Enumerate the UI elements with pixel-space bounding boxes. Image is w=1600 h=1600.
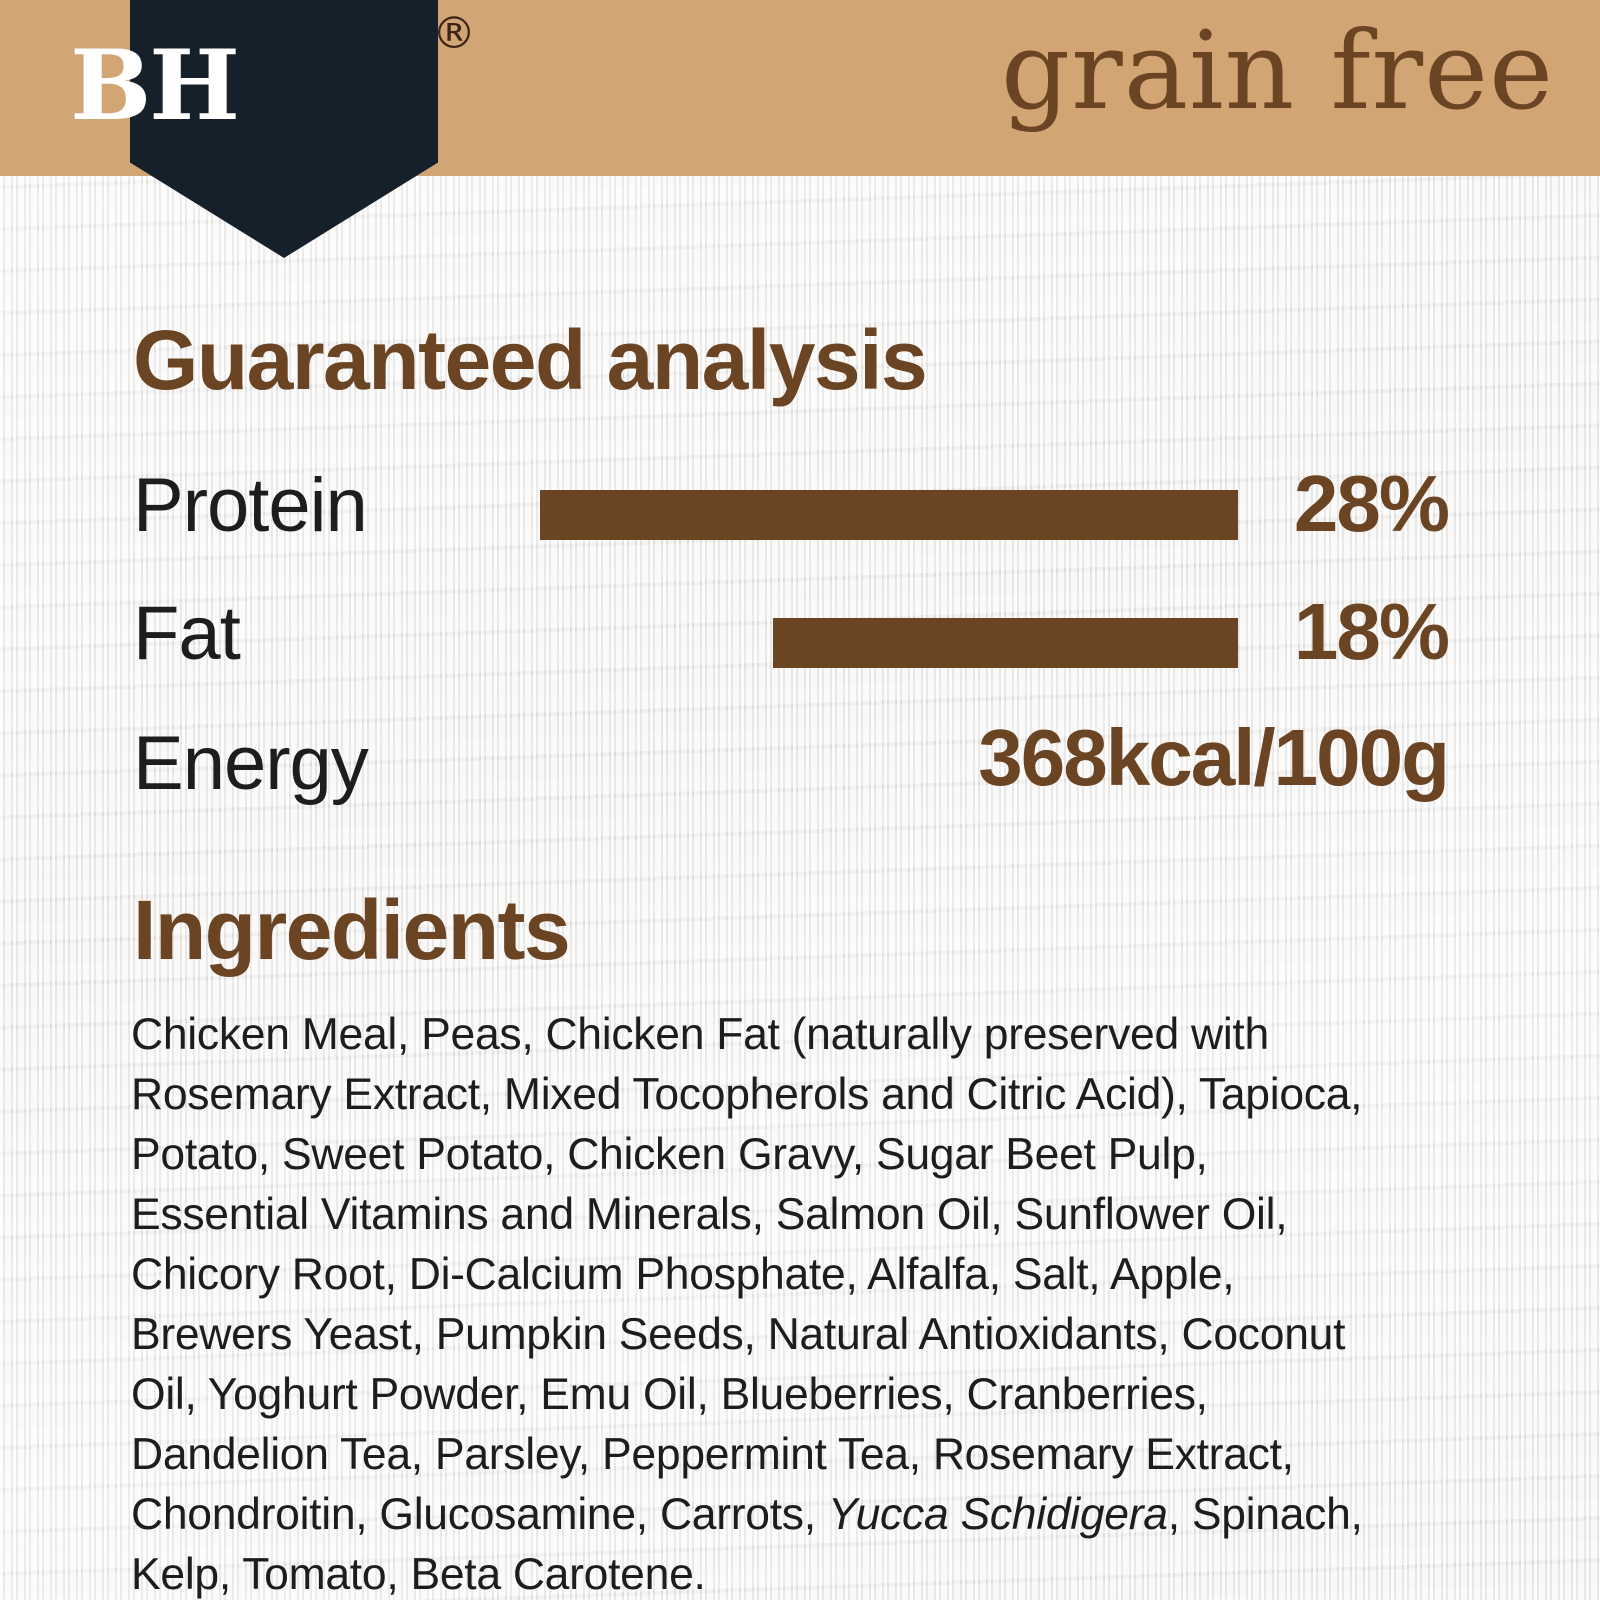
analysis-row-label: Protein: [133, 468, 367, 544]
analysis-row-fat: Fat 18%: [0, 596, 1600, 714]
analysis-row-value: 368kcal/100g: [978, 718, 1448, 798]
ingredients-heading: Ingredients: [133, 888, 569, 972]
ingredients-text-segment-1: Chicken Meal, Peas, Chicken Fat (natural…: [131, 1010, 1362, 1539]
ingredients-list-text: Chicken Meal, Peas, Chicken Fat (natural…: [131, 1005, 1396, 1600]
analysis-row-energy: Energy 368kcal/100g: [0, 726, 1600, 844]
product-label-panel: grain free BH ® Guaranteed analysis Prot…: [0, 0, 1600, 1600]
analysis-row-protein: Protein 28%: [0, 468, 1600, 586]
guaranteed-analysis-heading: Guaranteed analysis: [133, 318, 926, 402]
grain-free-tagline: grain free: [1001, 18, 1554, 126]
brand-logo-text: BH: [0, 38, 308, 134]
analysis-bar-protein: [540, 490, 1238, 540]
analysis-row-label: Fat: [133, 596, 240, 672]
analysis-row-label: Energy: [133, 726, 368, 802]
registered-trademark-icon: ®: [432, 12, 476, 56]
analysis-row-value: 28%: [1294, 464, 1448, 544]
ingredients-botanical-name: Yucca Schidigera: [828, 1490, 1168, 1539]
analysis-row-value: 18%: [1294, 592, 1448, 672]
analysis-bar-fat: [773, 618, 1238, 668]
guaranteed-analysis-table: Protein 28% Fat 18% Energy 368kcal/100g: [0, 468, 1600, 844]
